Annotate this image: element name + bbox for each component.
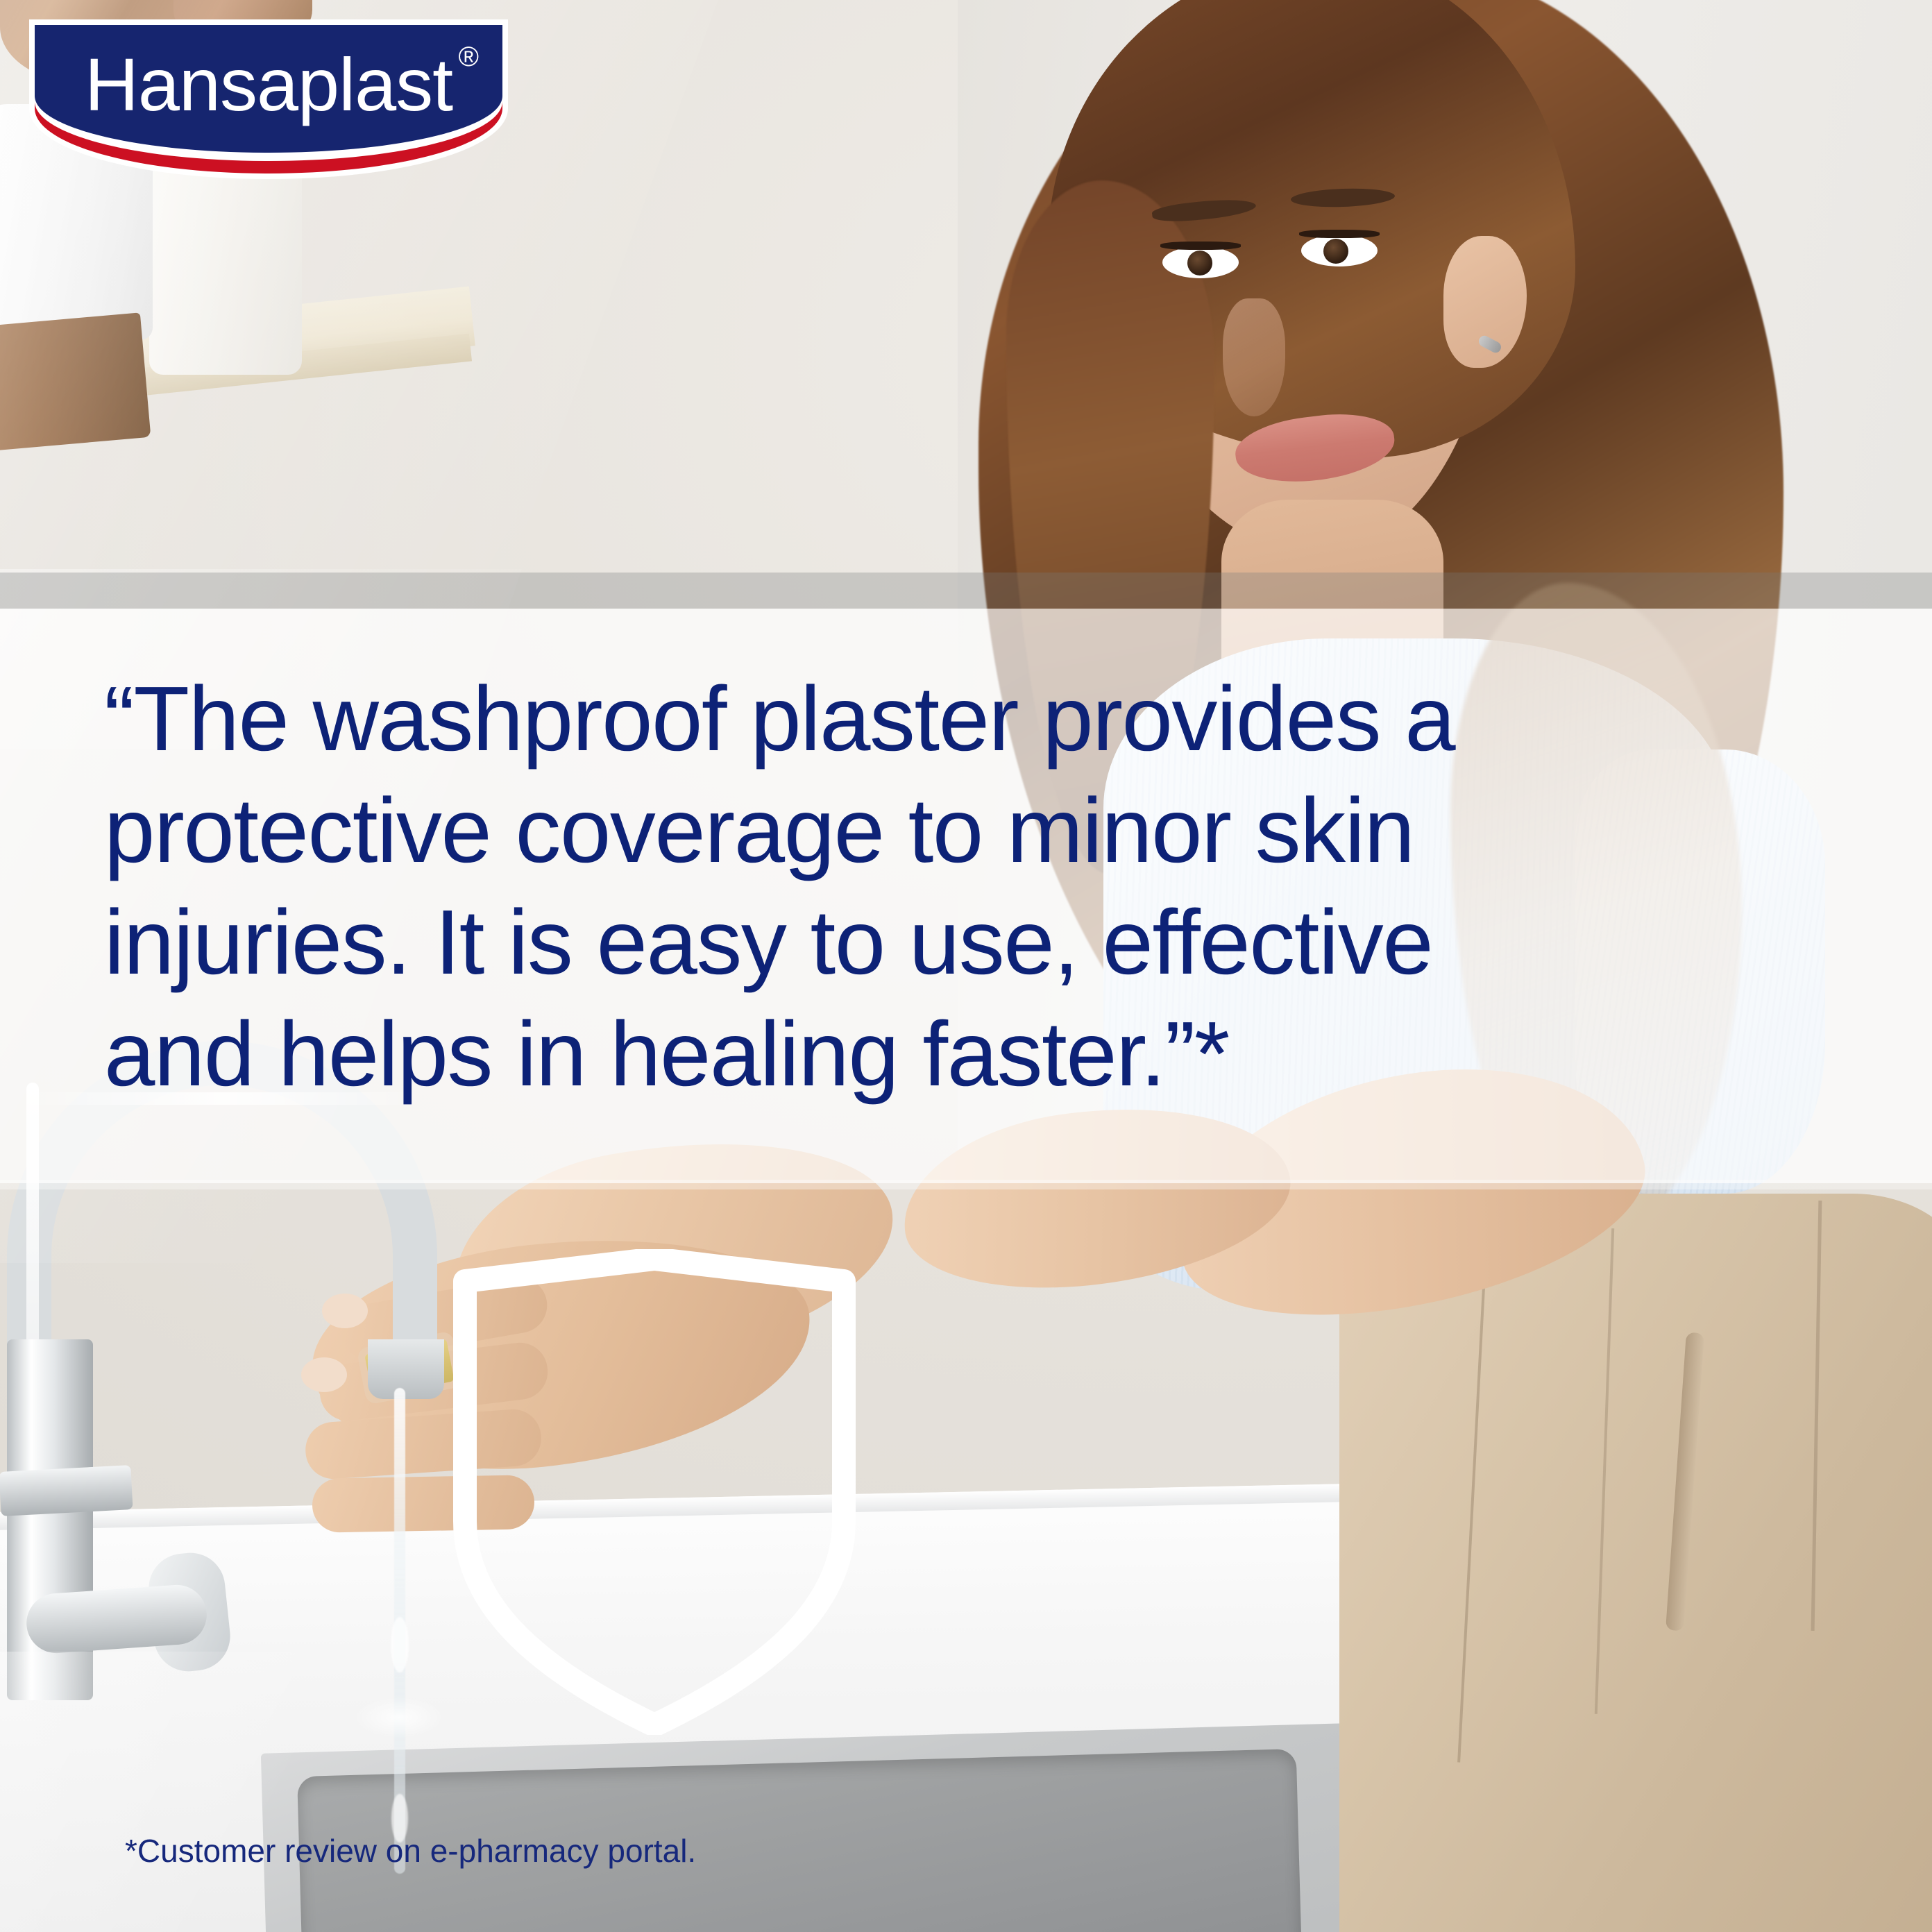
faucet-collar — [0, 1465, 133, 1516]
eyelash-right — [1299, 230, 1380, 238]
headline-quote: “The washproof plaster provides a protec… — [104, 663, 1790, 1110]
water-splash — [354, 1697, 444, 1738]
overlay-band-light-feather — [0, 1180, 1932, 1189]
trousers — [1339, 1194, 1932, 1932]
faucet-handle[interactable] — [24, 1583, 208, 1655]
logo-wordmark: Hansaplast — [29, 19, 508, 179]
hansaplast-logo: Hansaplast ® — [29, 19, 508, 179]
eye-right — [1301, 235, 1378, 266]
registered-trademark-icon: ® — [459, 43, 479, 71]
footnote-disclaimer: *Customer review on e-pharmacy portal. — [125, 1833, 696, 1869]
faucet-spout — [368, 1339, 444, 1399]
ad-creative: “The washproof plaster provides a protec… — [0, 0, 1932, 1932]
water-droplet — [391, 1617, 409, 1672]
finger — [312, 1475, 534, 1533]
eye-left — [1162, 246, 1239, 278]
nose — [1223, 298, 1285, 416]
overlay-band-grey — [0, 573, 1932, 609]
eyelash-left — [1160, 241, 1241, 250]
ceramic-jar-wood-base — [0, 312, 151, 450]
